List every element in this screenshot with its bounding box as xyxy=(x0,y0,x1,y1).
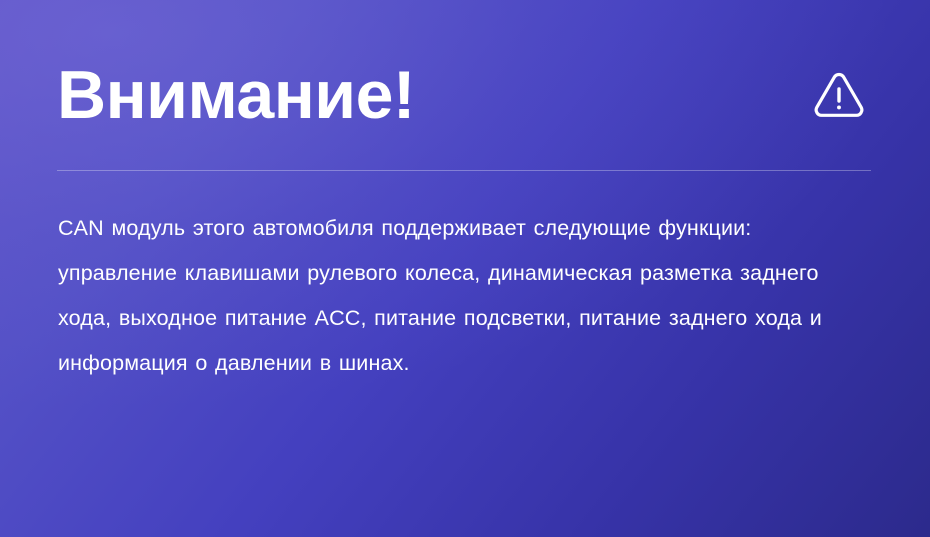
header-divider xyxy=(57,170,871,171)
warning-triangle-icon xyxy=(810,66,868,124)
body-paragraph-1: CAN модуль этого автомобиля поддерживает… xyxy=(58,206,878,251)
banner-header: Внимание! xyxy=(57,52,873,138)
warning-banner: Внимание! CAN модуль этого автомобиля по… xyxy=(0,0,930,537)
page-title: Внимание! xyxy=(57,61,415,129)
body-paragraph-2: управление клавишами рулевого колеса, ди… xyxy=(58,251,878,386)
banner-body: CAN модуль этого автомобиля поддерживает… xyxy=(58,206,878,386)
